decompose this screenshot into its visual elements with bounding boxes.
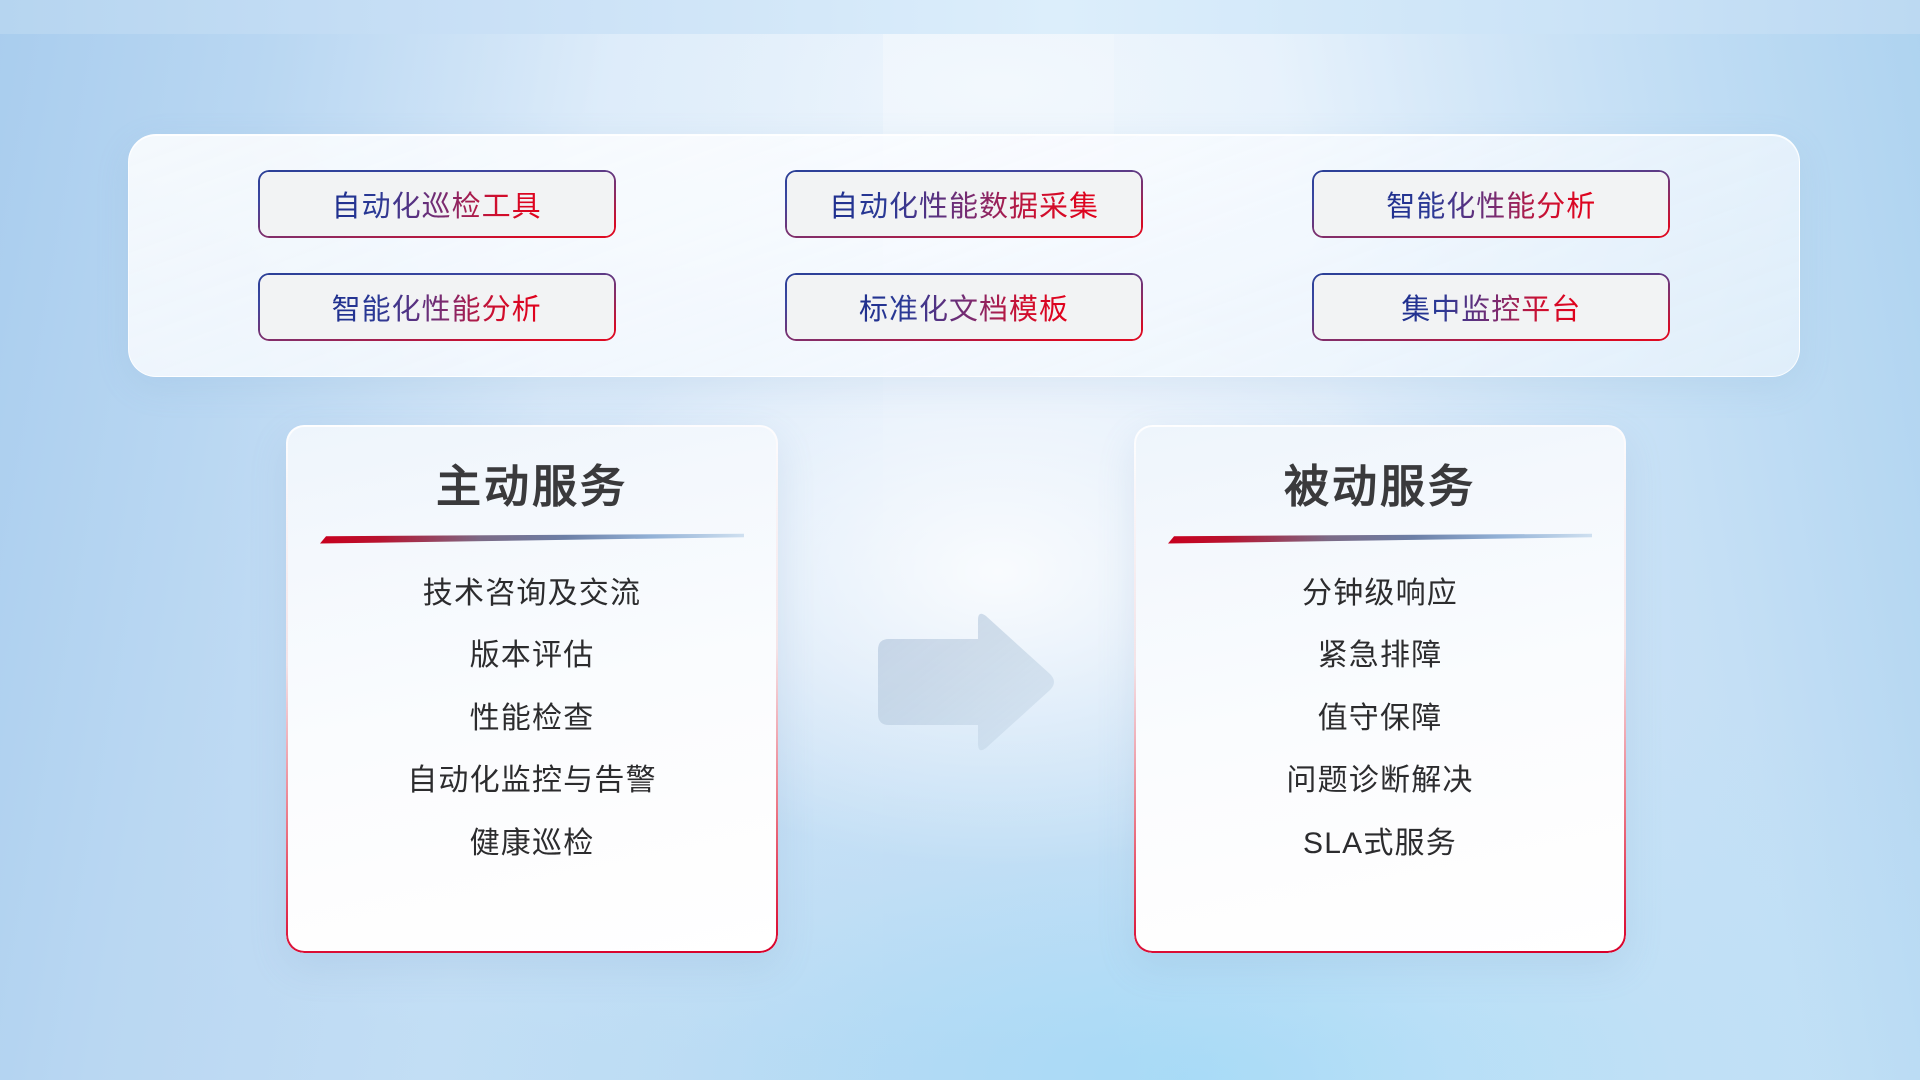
card-item-list: 技术咨询及交流 版本评估 性能检查 自动化监控与告警 健康巡检 — [320, 575, 744, 863]
gradient-divider-icon — [1168, 533, 1592, 545]
capability-pill-label: 自动化巡检工具 — [332, 183, 542, 225]
list-item: 紧急排障 — [1318, 637, 1443, 675]
list-item: 性能检查 — [470, 700, 595, 738]
card-divider — [320, 533, 744, 545]
card-divider — [1168, 533, 1592, 545]
pill-surface: 集中监控平台 — [1314, 275, 1668, 339]
card-body: 被动服务 分钟级响应 紧急排障 值守保障 — [1134, 425, 1626, 953]
capability-pill-label: 智能化性能分析 — [332, 286, 542, 328]
capability-pill-intelligent-perf-analysis[interactable]: 智能化性能分析 — [1312, 170, 1670, 238]
list-item: 分钟级响应 — [1302, 575, 1458, 613]
card-title: 主动服务 — [436, 461, 628, 513]
list-item: 自动化监控与告警 — [407, 762, 657, 800]
list-item: 技术咨询及交流 — [423, 575, 641, 613]
capability-panel: 自动化巡检工具 自动化性能数据采集 智能化性能分析 智能化性能分析 标准化文档模… — [128, 134, 1800, 377]
pill-surface: 自动化性能数据采集 — [787, 172, 1141, 236]
capability-pill-label: 自动化性能数据采集 — [829, 183, 1099, 225]
list-item: 问题诊断解决 — [1286, 762, 1473, 800]
service-card-active-service: 主动服务 技术咨询及交流 版本评估 性能检查 — [286, 425, 778, 953]
service-card-passive-service: 被动服务 分钟级响应 紧急排障 值守保障 — [1134, 425, 1626, 953]
pill-surface: 智能化性能分析 — [260, 275, 614, 339]
list-item: 健康巡检 — [470, 825, 595, 863]
card-body: 主动服务 技术咨询及交流 版本评估 性能检查 — [286, 425, 778, 953]
capability-pill-auto-inspection-tool[interactable]: 自动化巡检工具 — [258, 170, 616, 238]
list-item: 版本评估 — [470, 637, 595, 675]
capability-pill-central-monitoring-platform[interactable]: 集中监控平台 — [1312, 273, 1670, 341]
pill-surface: 智能化性能分析 — [1314, 172, 1668, 236]
capability-pill-auto-perf-data-collection[interactable]: 自动化性能数据采集 — [785, 170, 1143, 238]
right-arrow-icon — [870, 608, 1060, 756]
card-title: 被动服务 — [1284, 461, 1476, 513]
list-item: SLA式服务 — [1303, 825, 1457, 863]
capability-pill-label: 集中监控平台 — [1401, 286, 1581, 328]
pill-surface: 标准化文档模板 — [787, 275, 1141, 339]
capability-pill-label: 智能化性能分析 — [1386, 183, 1596, 225]
background-top-strip — [0, 0, 1920, 34]
list-item: 值守保障 — [1318, 700, 1443, 738]
gradient-divider-icon — [320, 533, 744, 545]
capability-pill-label: 标准化文档模板 — [859, 286, 1069, 328]
pill-surface: 自动化巡检工具 — [260, 172, 614, 236]
capability-pill-standard-doc-template[interactable]: 标准化文档模板 — [785, 273, 1143, 341]
card-item-list: 分钟级响应 紧急排障 值守保障 问题诊断解决 SLA式服务 — [1168, 575, 1592, 863]
capability-pill-intelligent-perf-analysis-2[interactable]: 智能化性能分析 — [258, 273, 616, 341]
